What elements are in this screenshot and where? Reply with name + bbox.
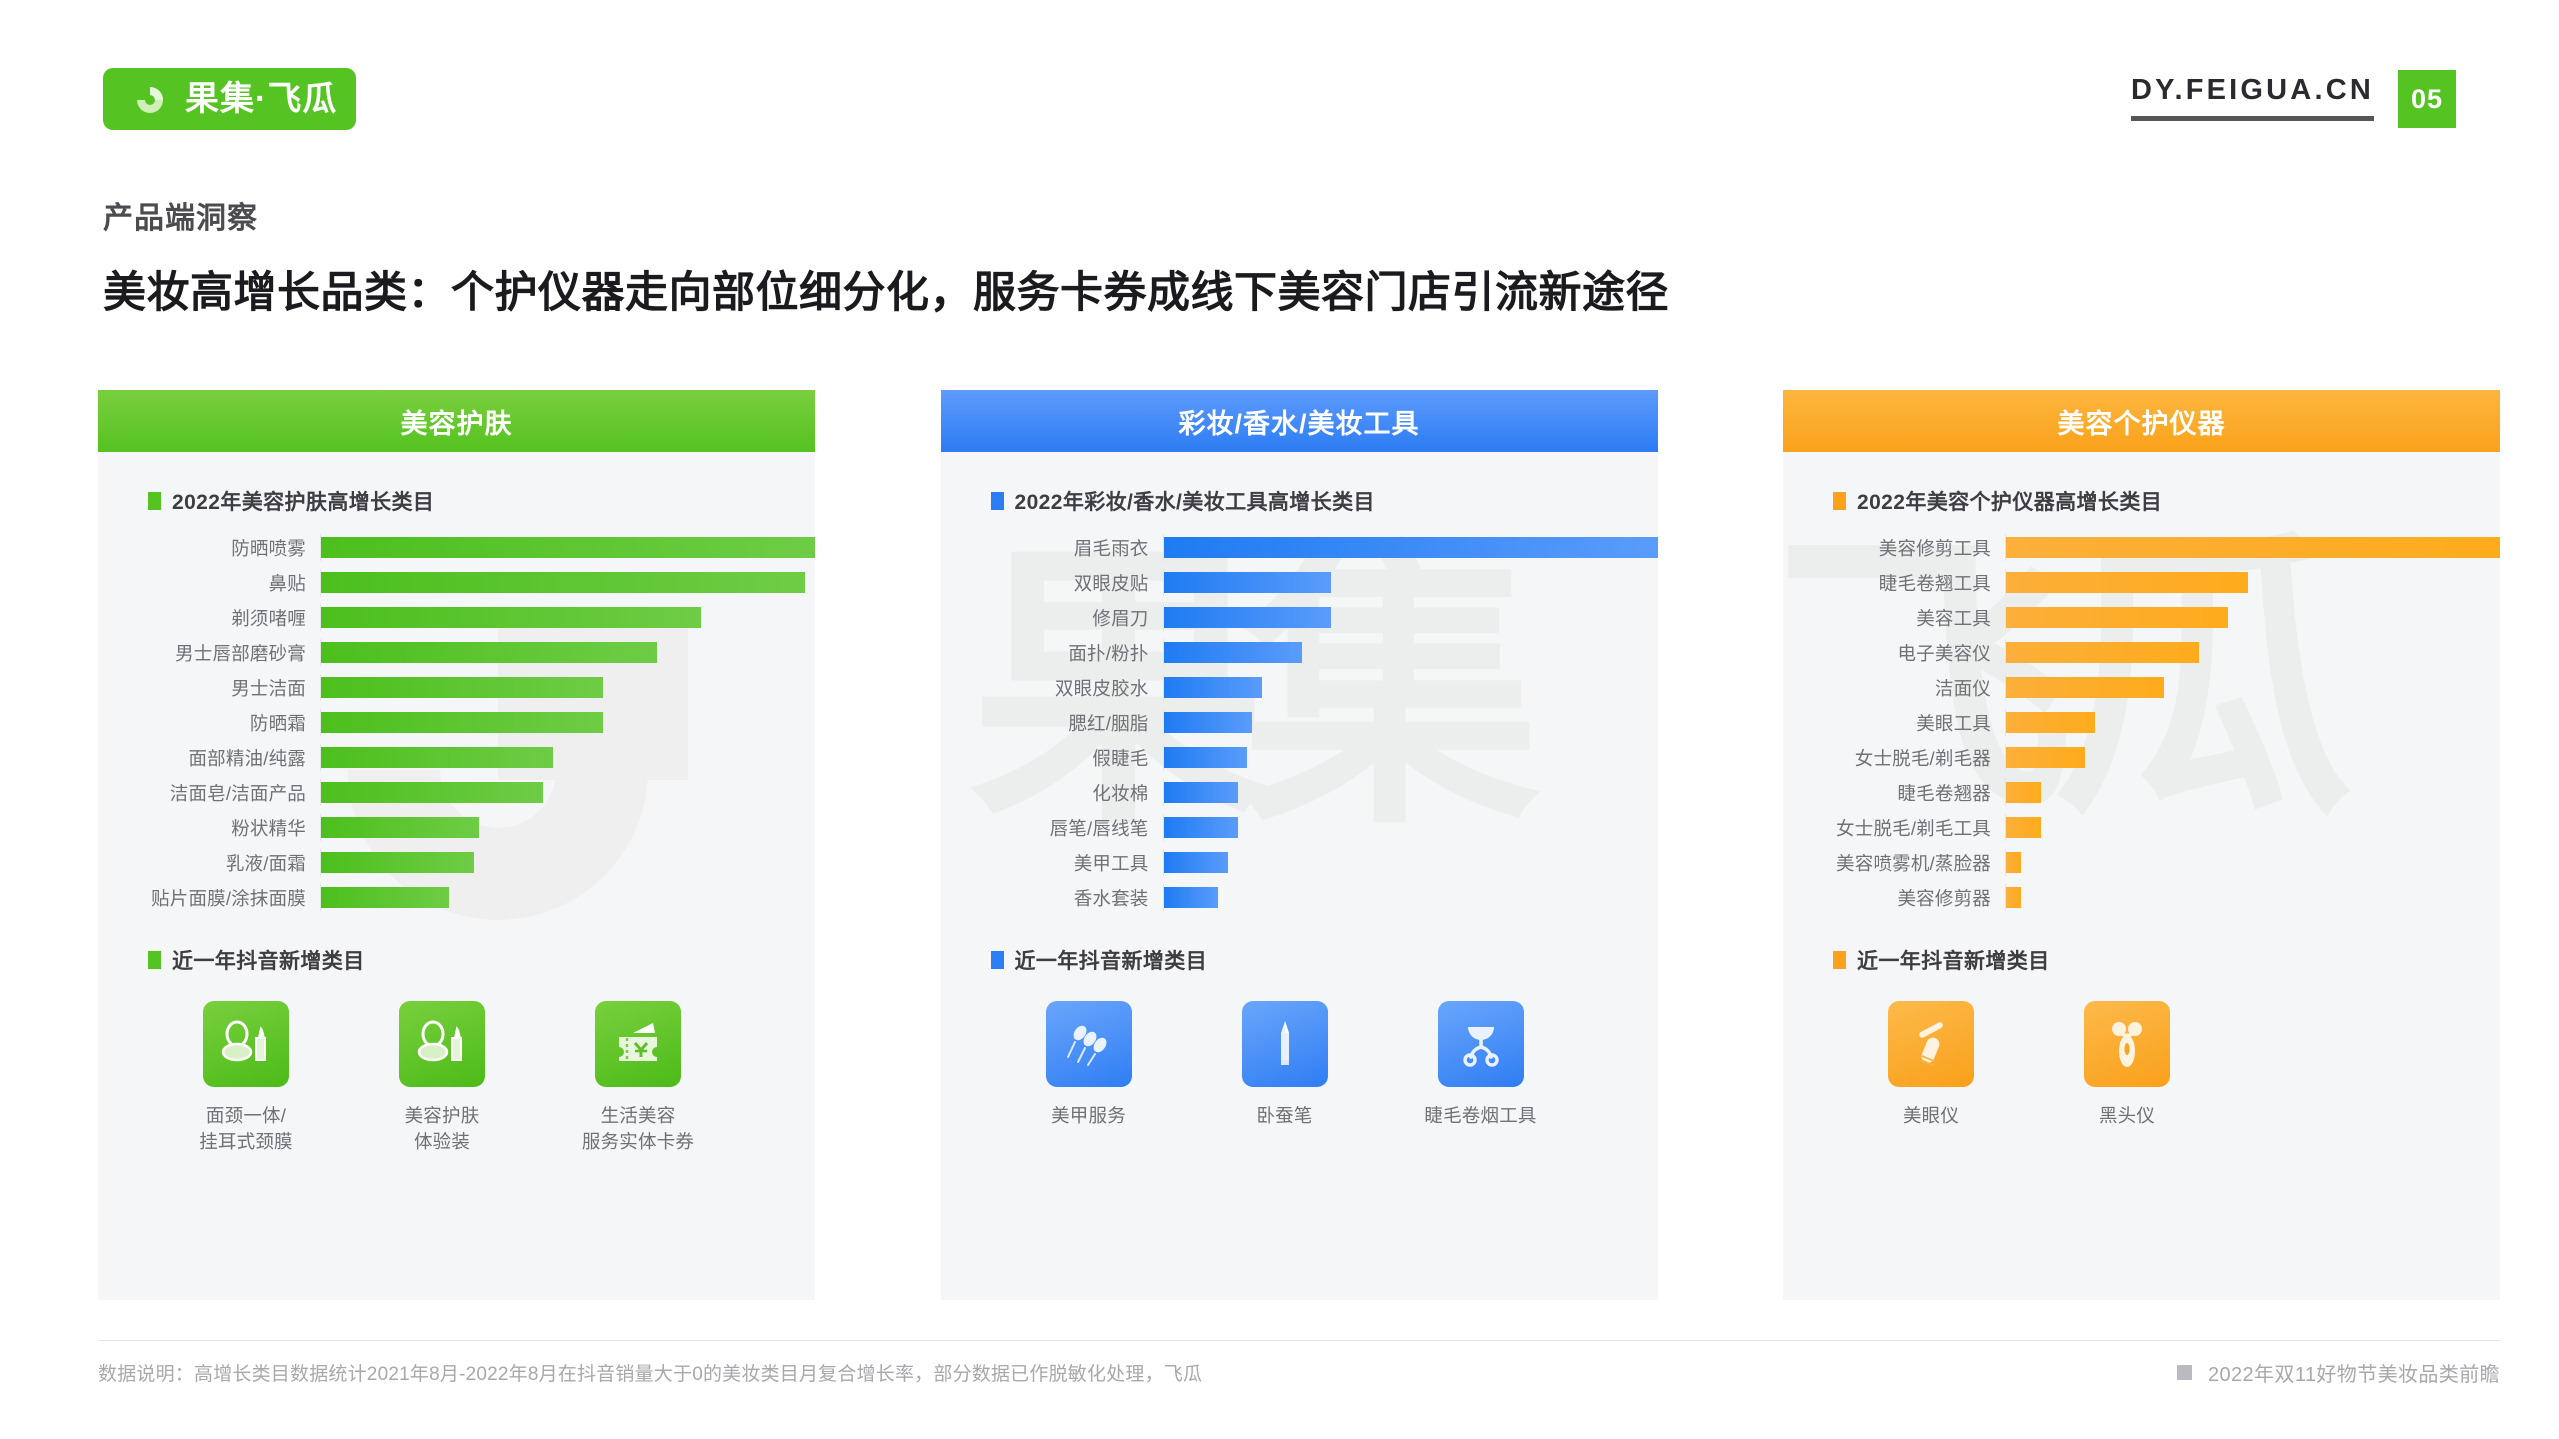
- section-kicker: 产品端洞察: [103, 193, 258, 237]
- bar-track: [1163, 534, 1658, 561]
- bar-fill: [1164, 712, 1253, 733]
- bar-category-label: 美容修剪工具: [1809, 535, 2005, 561]
- bar-fill: [321, 817, 479, 838]
- bar-row: 眉毛雨衣: [967, 534, 1658, 561]
- card-label: 睫毛卷烟工具: [1383, 1103, 1579, 1129]
- new-categories-legend: 近一年抖音新增类目: [98, 945, 815, 975]
- bar-track: [2005, 814, 2500, 841]
- bar-track: [320, 569, 815, 596]
- bar-category-label: 腮红/胭脂: [967, 710, 1163, 736]
- new-category-card[interactable]: 美眼仪: [1833, 1001, 2029, 1129]
- bar-track: [320, 814, 815, 841]
- bar-category-label: 贴片面膜/涂抹面膜: [124, 885, 320, 911]
- panel-skincare: 美容护肤 2022年美容护肤高增长类目 防晒喷雾: [98, 390, 815, 1300]
- chart-legend-label: 2022年美容护肤高增长类目: [172, 486, 434, 516]
- bar-track: [2005, 884, 2500, 911]
- bar-category-label: 洁面皂/洁面产品: [124, 780, 320, 806]
- bar-row: 面扑/粉扑: [967, 639, 1658, 666]
- bar-track: [2005, 534, 2500, 561]
- new-category-cards: 美眼仪: [1783, 1001, 2500, 1129]
- bar-chart-makeup: 眉毛雨衣 双眼皮贴 修眉刀 面扑/粉扑: [941, 534, 1658, 911]
- compact-lipstick-icon: [399, 1001, 485, 1087]
- bar-track: [2005, 674, 2500, 701]
- new-category-cards: 美甲服务 卧蚕: [941, 1001, 1658, 1129]
- panel-makeup: 彩妆/香水/美妆工具 果 集 2022年彩妆/香水/美妆工具高增长类目 眉毛雨衣…: [941, 390, 1658, 1300]
- panel-body-skincare: 2022年美容护肤高增长类目 防晒喷雾 鼻贴 剃须啫喱: [98, 452, 815, 1300]
- bar-track: [1163, 884, 1658, 911]
- bar-category-label: 眉毛雨衣: [967, 535, 1163, 561]
- bar-track: [320, 534, 815, 561]
- card-label-line: 美眼仪: [1833, 1103, 2029, 1129]
- bar-row: 睫毛卷翘器: [1809, 779, 2500, 806]
- bar-fill: [321, 642, 657, 663]
- bar-fill: [321, 887, 449, 908]
- bar-row: 洁面仪: [1809, 674, 2500, 701]
- bar-fill: [2006, 607, 2228, 628]
- panel-body-makeup: 2022年彩妆/香水/美妆工具高增长类目 眉毛雨衣 双眼皮贴 修眉刀: [941, 452, 1658, 1300]
- card-label-line: 生活美容: [540, 1103, 736, 1129]
- bar-fill: [2006, 677, 2164, 698]
- card-label: 美容护肤 体验装: [344, 1103, 540, 1156]
- bar-fill: [2006, 642, 2199, 663]
- bar-category-label: 香水套装: [967, 885, 1163, 911]
- bar-category-label: 粉状精华: [124, 815, 320, 841]
- bar-track: [2005, 604, 2500, 631]
- card-label: 生活美容 服务实体卡券: [540, 1103, 736, 1156]
- bar-track: [320, 639, 815, 666]
- bar-row: 贴片面膜/涂抹面膜: [124, 884, 815, 911]
- bar-row: 假睫毛: [967, 744, 1658, 771]
- bar-row: 美容修剪器: [1809, 884, 2500, 911]
- fruit-hook-logo-icon: [129, 78, 171, 120]
- bar-row: 美眼工具: [1809, 709, 2500, 736]
- chart-legend-label: 2022年美容个护仪器高增长类目: [1857, 486, 2162, 516]
- bar-track: [1163, 639, 1658, 666]
- bar-track: [2005, 709, 2500, 736]
- card-label-line: 黑头仪: [2029, 1103, 2225, 1129]
- bar-row: 美容工具: [1809, 604, 2500, 631]
- bar-track: [2005, 779, 2500, 806]
- bar-category-label: 洁面仪: [1809, 675, 2005, 701]
- bar-fill: [1164, 887, 1218, 908]
- bar-row: 唇笔/唇线笔: [967, 814, 1658, 841]
- eyelash-curler-icon: [1438, 1001, 1524, 1087]
- new-categories-label: 近一年抖音新增类目: [172, 945, 365, 975]
- bar-category-label: 化妆棉: [967, 780, 1163, 806]
- new-category-cards: 面颈一体/ 挂耳式颈膜: [98, 1001, 815, 1156]
- bar-fill: [1164, 537, 1658, 558]
- bar-row: 双眼皮胶水: [967, 674, 1658, 701]
- new-categories-makeup: 近一年抖音新增类目: [941, 945, 1658, 1129]
- card-label: 美眼仪: [1833, 1103, 2029, 1129]
- bar-track: [1163, 604, 1658, 631]
- bar-row: 化妆棉: [967, 779, 1658, 806]
- yen-coupon-icon: [595, 1001, 681, 1087]
- bar-row: 修眉刀: [967, 604, 1658, 631]
- new-category-card[interactable]: 黑头仪: [2029, 1001, 2225, 1129]
- card-label: 面颈一体/ 挂耳式颈膜: [148, 1103, 344, 1156]
- bar-track: [2005, 569, 2500, 596]
- bar-fill: [2006, 712, 2095, 733]
- bar-fill: [1164, 852, 1228, 873]
- bar-fill: [1164, 817, 1238, 838]
- page-footer: 数据说明：高增长类目数据统计2021年8月-2022年8月在抖音销量大于0的美妆…: [98, 1358, 2500, 1387]
- bar-track: [2005, 639, 2500, 666]
- bar-row: 洁面皂/洁面产品: [124, 779, 815, 806]
- chart-legend-label: 2022年彩妆/香水/美妆工具高增长类目: [1015, 486, 1375, 516]
- card-label-line: 美甲服务: [991, 1103, 1187, 1129]
- bar-track: [2005, 744, 2500, 771]
- bar-category-label: 鼻贴: [124, 570, 320, 596]
- bar-track: [320, 604, 815, 631]
- bar-category-label: 睫毛卷翘器: [1809, 780, 2005, 806]
- footer-report-title: 2022年双11好物节美妆品类前瞻: [2208, 1358, 2500, 1387]
- card-label-line: 美容护肤: [344, 1103, 540, 1129]
- bar-row: 防晒霜: [124, 709, 815, 736]
- bar-row: 剃须啫喱: [124, 604, 815, 631]
- bar-fill: [1164, 747, 1248, 768]
- bar-category-label: 唇笔/唇线笔: [967, 815, 1163, 841]
- bar-track: [1163, 849, 1658, 876]
- panel-header-devices: 美容个护仪器: [1783, 390, 2500, 452]
- bar-category-label: 女士脱毛/剃毛器: [1809, 745, 2005, 771]
- bar-category-label: 美容喷雾机/蒸脸器: [1809, 850, 2005, 876]
- card-label-line: 服务实体卡券: [540, 1129, 736, 1155]
- bar-category-label: 防晒喷雾: [124, 535, 320, 561]
- bar-track: [1163, 744, 1658, 771]
- bar-fill: [321, 747, 553, 768]
- site-url: DY.FEIGUA.CN: [2131, 76, 2374, 105]
- new-categories-legend: 近一年抖音新增类目: [1783, 945, 2500, 975]
- bar-fill: [2006, 887, 2021, 908]
- bar-fill: [2006, 852, 2021, 873]
- bar-category-label: 睫毛卷翘工具: [1809, 570, 2005, 596]
- bar-category-label: 女士脱毛/剃毛工具: [1809, 815, 2005, 841]
- brand-name: 果集·飞瓜: [185, 82, 337, 116]
- bar-category-label: 假睫毛: [967, 745, 1163, 771]
- bar-category-label: 美容修剪器: [1809, 885, 2005, 911]
- compact-lipstick-icon: [203, 1001, 289, 1087]
- brand-logo[interactable]: 果集·飞瓜: [103, 68, 356, 130]
- bar-category-label: 面部精油/纯露: [124, 745, 320, 771]
- bar-track: [2005, 849, 2500, 876]
- bar-track: [320, 709, 815, 736]
- bar-track: [320, 849, 815, 876]
- panel-body-devices: 2022年美容个护仪器高增长类目 美容修剪工具 睫毛卷翘工具 美容工具: [1783, 452, 2500, 1300]
- legend-swatch-icon: [991, 492, 1004, 510]
- bar-fill: [321, 537, 815, 558]
- bar-chart-skincare: 防晒喷雾 鼻贴 剃须啫喱 男士唇部磨砂膏: [98, 534, 815, 911]
- bar-fill: [1164, 642, 1302, 663]
- card-label: 卧蚕笔: [1187, 1103, 1383, 1129]
- bar-row: 面部精油/纯露: [124, 744, 815, 771]
- bar-category-label: 防晒霜: [124, 710, 320, 736]
- bar-fill: [2006, 537, 2500, 558]
- slide-page: 果集·飞瓜 DY.FEIGUA.CN 05 产品端洞察 美妆高增长品类：个护仪器…: [0, 0, 2559, 1439]
- chart-legend-makeup: 2022年彩妆/香水/美妆工具高增长类目: [941, 486, 1658, 516]
- card-label: 美甲服务: [991, 1103, 1187, 1129]
- new-category-card[interactable]: 卧蚕笔: [1187, 1001, 1383, 1129]
- panel-devices: 美容个护仪器 飞 瓜 2022年美容个护仪器高增长类目 美容修剪工具 睫毛卷翘工…: [1783, 390, 2500, 1300]
- card-label: 黑头仪: [2029, 1103, 2225, 1129]
- legend-swatch-icon: [1833, 492, 1846, 510]
- nail-art-icon: [1046, 1001, 1132, 1087]
- bar-row: 睫毛卷翘工具: [1809, 569, 2500, 596]
- bar-category-label: 剃须啫喱: [124, 605, 320, 631]
- bar-row: 香水套装: [967, 884, 1658, 911]
- new-category-card[interactable]: 生活美容 服务实体卡券: [540, 1001, 736, 1156]
- legend-swatch-icon: [148, 951, 161, 969]
- bar-category-label: 面扑/粉扑: [967, 640, 1163, 666]
- eyeliner-pen-icon: [1242, 1001, 1328, 1087]
- chart-legend-devices: 2022年美容个护仪器高增长类目: [1783, 486, 2500, 516]
- bar-row: 男士洁面: [124, 674, 815, 701]
- site-url-block: DY.FEIGUA.CN: [2131, 70, 2374, 121]
- bar-track: [320, 744, 815, 771]
- bar-row: 美容喷雾机/蒸脸器: [1809, 849, 2500, 876]
- bar-row: 防晒喷雾: [124, 534, 815, 561]
- bar-fill: [321, 782, 543, 803]
- panels-container: 美容护肤 2022年美容护肤高增长类目 防晒喷雾: [98, 390, 2500, 1300]
- bar-track: [1163, 569, 1658, 596]
- bar-fill: [1164, 607, 1332, 628]
- legend-swatch-icon: [991, 951, 1004, 969]
- eye-massager-icon: [1888, 1001, 1974, 1087]
- bar-row: 乳液/面霜: [124, 849, 815, 876]
- new-category-card[interactable]: 睫毛卷烟工具: [1383, 1001, 1579, 1129]
- bar-category-label: 男士唇部磨砂膏: [124, 640, 320, 666]
- bar-fill: [2006, 782, 2041, 803]
- panel-header-skincare: 美容护肤: [98, 390, 815, 452]
- bar-fill: [321, 677, 603, 698]
- legend-swatch-icon: [1833, 951, 1846, 969]
- new-categories-label: 近一年抖音新增类目: [1857, 945, 2050, 975]
- bar-fill: [321, 852, 474, 873]
- page-header: 果集·飞瓜 DY.FEIGUA.CN 05: [0, 0, 2559, 170]
- page-number-badge: 05: [2398, 70, 2456, 128]
- new-categories-devices: 近一年抖音新增类目: [1783, 945, 2500, 1129]
- bar-category-label: 乳液/面霜: [124, 850, 320, 876]
- new-categories-legend: 近一年抖音新增类目: [941, 945, 1658, 975]
- page-title: 美妆高增长品类：个护仪器走向部位细分化，服务卡券成线下美容门店引流新途径: [103, 258, 1669, 320]
- footer-square-icon: [2177, 1365, 2192, 1380]
- bar-category-label: 双眼皮胶水: [967, 675, 1163, 701]
- bar-track: [320, 884, 815, 911]
- bar-track: [1163, 709, 1658, 736]
- chart-legend-skincare: 2022年美容护肤高增长类目: [98, 486, 815, 516]
- bar-row: 女士脱毛/剃毛工具: [1809, 814, 2500, 841]
- footer-divider: [98, 1340, 2500, 1341]
- card-label-line: 睫毛卷烟工具: [1383, 1103, 1579, 1129]
- legend-swatch-icon: [148, 492, 161, 510]
- new-category-card[interactable]: 美容护肤 体验装: [344, 1001, 540, 1156]
- header-right-group: DY.FEIGUA.CN 05: [2131, 70, 2456, 128]
- bar-row: 双眼皮贴: [967, 569, 1658, 596]
- card-label-line: 卧蚕笔: [1187, 1103, 1383, 1129]
- bar-track: [1163, 814, 1658, 841]
- bar-fill: [1164, 782, 1238, 803]
- bar-row: 美甲工具: [967, 849, 1658, 876]
- bar-track: [1163, 779, 1658, 806]
- bar-fill: [2006, 572, 2248, 593]
- new-category-card[interactable]: 面颈一体/ 挂耳式颈膜: [148, 1001, 344, 1156]
- bar-category-label: 男士洁面: [124, 675, 320, 701]
- card-label-line: 面颈一体/: [148, 1103, 344, 1129]
- bar-fill: [321, 607, 701, 628]
- bar-track: [320, 779, 815, 806]
- bar-fill: [321, 712, 603, 733]
- bar-fill: [1164, 677, 1263, 698]
- bar-fill: [2006, 817, 2041, 838]
- bar-category-label: 美容工具: [1809, 605, 2005, 631]
- bar-row: 男士唇部磨砂膏: [124, 639, 815, 666]
- footer-report-ref: 2022年双11好物节美妆品类前瞻: [2177, 1358, 2500, 1387]
- bar-category-label: 电子美容仪: [1809, 640, 2005, 666]
- bar-row: 粉状精华: [124, 814, 815, 841]
- new-categories-label: 近一年抖音新增类目: [1015, 945, 1208, 975]
- bar-category-label: 修眉刀: [967, 605, 1163, 631]
- panel-header-makeup: 彩妆/香水/美妆工具: [941, 390, 1658, 452]
- bar-fill: [2006, 747, 2085, 768]
- bar-row: 腮红/胭脂: [967, 709, 1658, 736]
- bar-chart-devices: 美容修剪工具 睫毛卷翘工具 美容工具 电子美容仪: [1783, 534, 2500, 911]
- bar-row: 女士脱毛/剃毛器: [1809, 744, 2500, 771]
- card-label-line: 挂耳式颈膜: [148, 1129, 344, 1155]
- bar-row: 鼻贴: [124, 569, 815, 596]
- bar-category-label: 美甲工具: [967, 850, 1163, 876]
- bar-row: 电子美容仪: [1809, 639, 2500, 666]
- blackhead-remover-icon: [2084, 1001, 2170, 1087]
- new-categories-skincare: 近一年抖音新增类目: [98, 945, 815, 1156]
- bar-category-label: 双眼皮贴: [967, 570, 1163, 596]
- new-category-card[interactable]: 美甲服务: [991, 1001, 1187, 1129]
- site-url-underline: [2131, 116, 2374, 121]
- bar-category-label: 美眼工具: [1809, 710, 2005, 736]
- bar-fill: [1164, 572, 1332, 593]
- bar-fill: [321, 572, 805, 593]
- bar-row: 美容修剪工具: [1809, 534, 2500, 561]
- bar-track: [320, 674, 815, 701]
- footer-note: 数据说明：高增长类目数据统计2021年8月-2022年8月在抖音销量大于0的美妆…: [98, 1359, 1202, 1386]
- card-label-line: 体验装: [344, 1129, 540, 1155]
- bar-track: [1163, 674, 1658, 701]
